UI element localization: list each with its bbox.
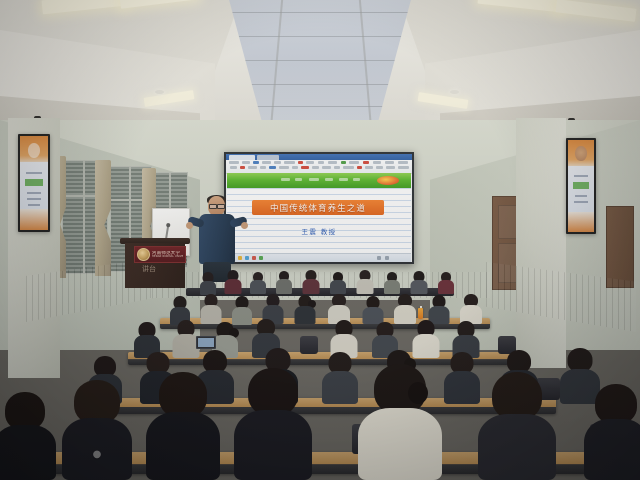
audience-member — [356, 270, 373, 294]
audience-member: ● — [62, 380, 132, 480]
slide-title: 中国传统体育养生之道 — [252, 200, 384, 215]
podium: 河南师范大学 HENAN NORMAL UNIVERSITY 讲台 — [120, 238, 190, 288]
drink-bottle — [418, 308, 423, 319]
audience-member — [322, 352, 358, 404]
presenter-hand-right — [241, 222, 248, 229]
document-tab[interactable] — [229, 155, 255, 160]
media-icon[interactable] — [259, 256, 263, 260]
audience-member — [358, 364, 442, 480]
podium-institution-name: 河南师范大学 HENAN NORMAL UNIVERSITY — [152, 251, 183, 259]
institution-en: HENAN NORMAL UNIVERSITY — [152, 256, 183, 259]
lecture-hall-photo: 中国传统体育养生之道 王震 教授 — [0, 0, 640, 480]
audience-member — [146, 372, 220, 480]
ceiling-downlight — [155, 90, 164, 94]
audience-member — [362, 296, 383, 324]
audience-member — [224, 270, 241, 294]
mail-icon[interactable] — [252, 256, 256, 260]
taskbar — [227, 253, 411, 262]
audience-member — [250, 272, 266, 294]
wall-poster-right — [566, 138, 596, 234]
document-green-banner — [227, 173, 411, 188]
glasses-icon — [217, 204, 225, 209]
audience-member — [478, 372, 556, 480]
door-right-far[interactable] — [606, 206, 634, 288]
podium-nameplate: 河南师范大学 HENAN NORMAL UNIVERSITY — [134, 246, 186, 263]
audience-member — [438, 272, 454, 294]
podium-side-text: 讲台 — [142, 264, 156, 274]
chair-back — [300, 336, 318, 354]
audience-member — [200, 294, 221, 324]
document-page — [227, 188, 411, 254]
banner-logo-icon — [377, 176, 399, 185]
audience-member — [302, 270, 319, 294]
projected-desktop: 中国传统体育养生之道 王震 教授 — [226, 154, 412, 262]
audience-member — [276, 271, 292, 294]
torso — [200, 281, 216, 295]
pillar-right — [516, 118, 566, 368]
shirt-graphic: ● — [78, 450, 116, 460]
document-tab[interactable] — [257, 155, 279, 160]
audience-member — [232, 296, 252, 324]
ceiling-downlight — [450, 90, 459, 94]
university-seal-icon — [137, 248, 150, 261]
slide-subtitle: 王震 教授 — [280, 226, 358, 236]
audience-member — [584, 384, 640, 480]
audience-member — [410, 271, 427, 294]
audience-member — [294, 295, 315, 324]
projection-screen: 中国传统体育养生之道 王震 教授 — [224, 152, 414, 264]
tray-icon[interactable] — [377, 256, 381, 260]
glasses-icon — [209, 204, 217, 209]
wall-poster-left — [18, 134, 50, 232]
audience-member — [384, 272, 400, 294]
laptop — [196, 336, 216, 349]
audience-member — [460, 294, 482, 324]
clock-icon[interactable] — [385, 256, 389, 260]
audience-member — [0, 392, 56, 480]
audience-member — [330, 272, 346, 294]
audience-member — [444, 352, 480, 404]
document-ribbon — [226, 160, 412, 174]
audience-member — [234, 368, 312, 480]
presenter-hand-left — [186, 222, 193, 229]
audience-member — [200, 272, 216, 294]
audience-member — [172, 320, 199, 358]
